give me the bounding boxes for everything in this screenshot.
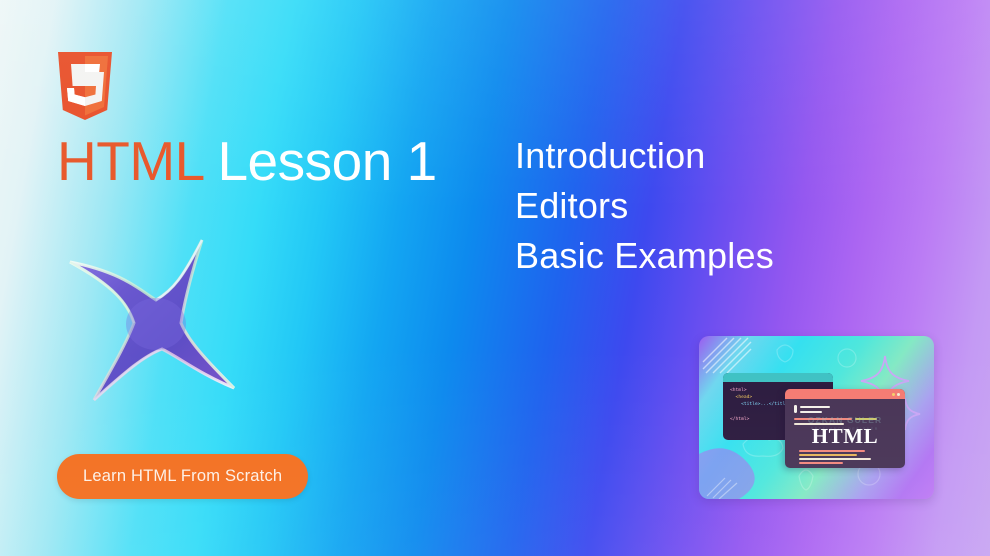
window-dot-icon (892, 393, 895, 396)
window-title-bar (785, 389, 905, 399)
code-line (799, 450, 865, 452)
window-body: OZKAN GULER FREELANCE DESIGNER HTML (785, 399, 905, 468)
code-line (800, 406, 830, 408)
html-heading: HTML (785, 424, 905, 449)
title-rest: Lesson 1 (203, 130, 437, 192)
title-keyword: HTML (57, 130, 203, 192)
window-title-bar (723, 373, 833, 382)
topic-item: Editors (515, 181, 774, 231)
topic-list: Introduction Editors Basic Examples (515, 131, 774, 281)
html5-logo-icon (54, 52, 116, 124)
code-line (799, 462, 843, 464)
html-window-front: OZKAN GULER FREELANCE DESIGNER HTML (785, 389, 905, 468)
topic-item: Basic Examples (515, 231, 774, 281)
four-point-star-icon (52, 228, 262, 410)
page-title: HTML Lesson 1 (57, 131, 437, 192)
slide-canvas: HTML Lesson 1 (0, 0, 990, 556)
topic-item: Introduction (515, 131, 774, 181)
code-windows-card: <html> <head> <title>...</title> </html>… (699, 336, 934, 499)
window-dot-icon (897, 393, 900, 396)
code-line (799, 454, 857, 456)
code-caret (794, 405, 797, 413)
learn-html-button[interactable]: Learn HTML From Scratch (57, 454, 308, 499)
code-line (799, 458, 871, 460)
code-line (800, 411, 822, 413)
